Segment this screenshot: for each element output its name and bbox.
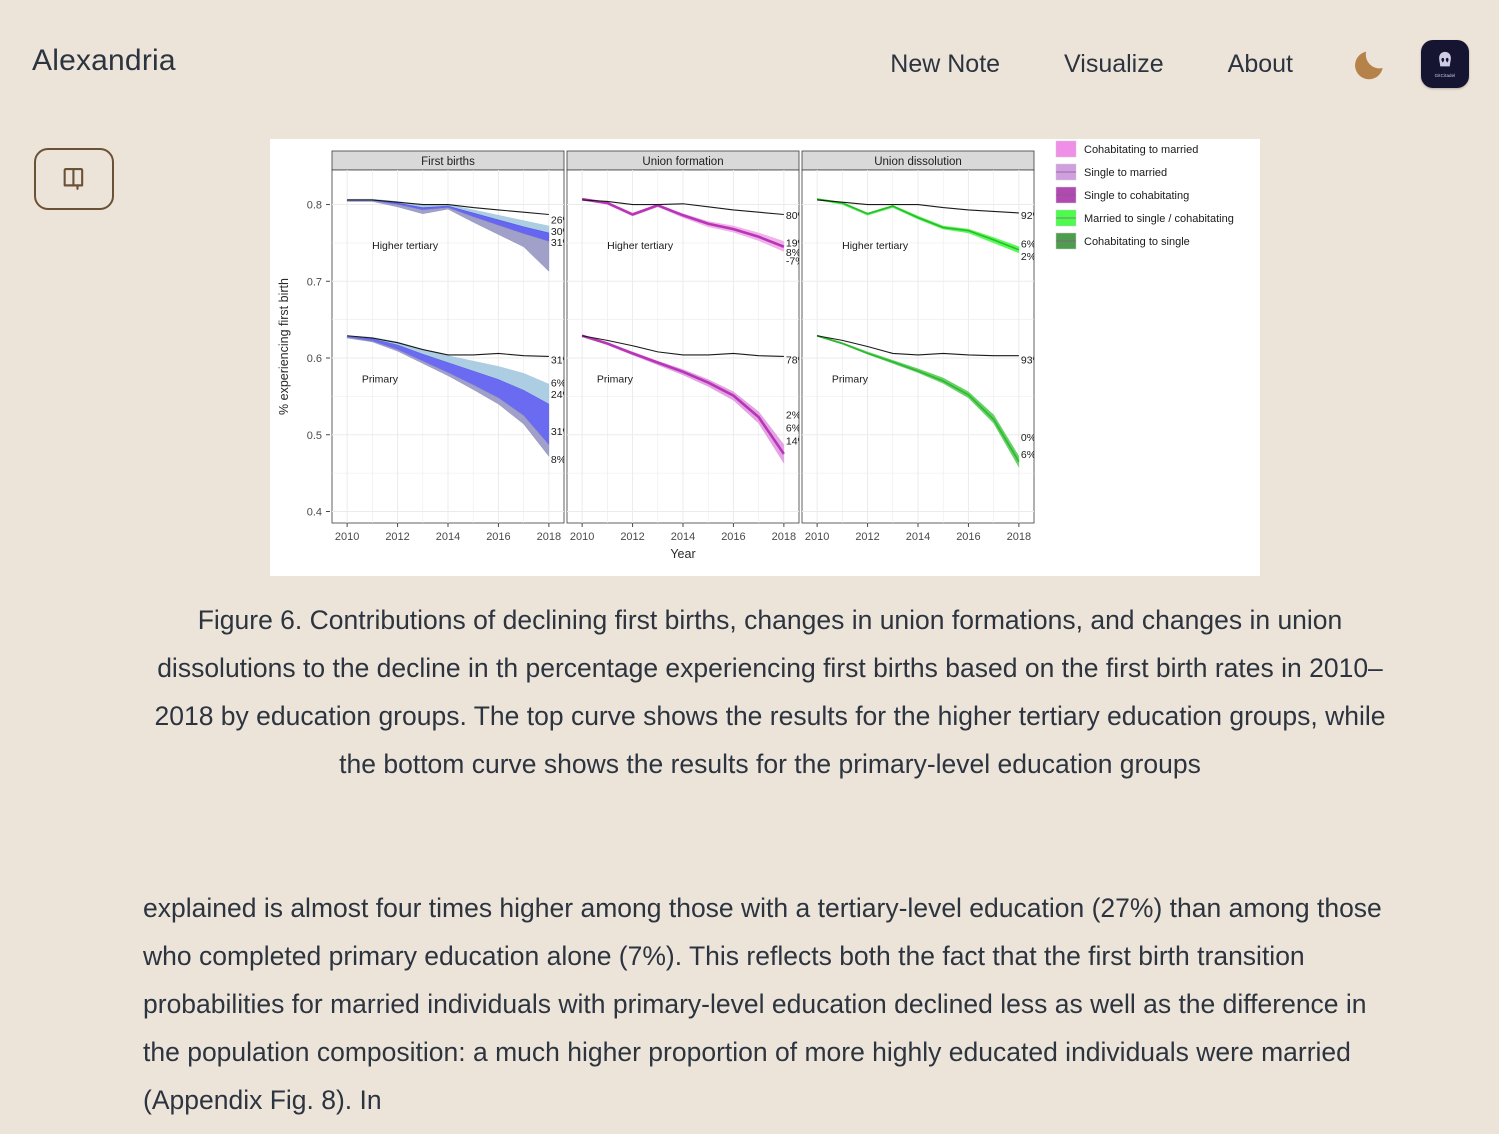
figure-6-chart: 0.40.50.60.70.8% experiencing first birt…	[270, 139, 1260, 576]
svg-text:2012: 2012	[855, 531, 879, 543]
logo-wordmark: GitCitadel	[1435, 73, 1456, 78]
moon-icon	[1351, 45, 1389, 83]
svg-text:2012: 2012	[620, 531, 644, 543]
svg-text:2016: 2016	[486, 531, 510, 543]
svg-text:8%: 8%	[551, 454, 566, 466]
svg-text:0.7: 0.7	[307, 276, 322, 288]
figure-caption: Figure 6. Contributions of declining fir…	[140, 596, 1400, 788]
svg-text:2018: 2018	[772, 531, 796, 543]
svg-text:2014: 2014	[906, 531, 930, 543]
article-paragraph: explained is almost four times higher am…	[143, 884, 1391, 1124]
nav-about[interactable]: About	[1196, 50, 1325, 79]
svg-text:Union formation: Union formation	[642, 156, 723, 168]
svg-text:2014: 2014	[436, 531, 460, 543]
svg-text:2016: 2016	[956, 531, 980, 543]
figure-image-container: 0.40.50.60.70.8% experiencing first birt…	[270, 139, 1260, 576]
svg-text:2%: 2%	[786, 410, 801, 422]
svg-text:2010: 2010	[570, 531, 594, 543]
svg-text:Higher tertiary: Higher tertiary	[372, 240, 439, 252]
nav-new-note[interactable]: New Note	[858, 50, 1032, 79]
svg-text:0%: 0%	[1021, 432, 1036, 444]
theme-toggle-button[interactable]	[1349, 43, 1391, 85]
svg-text:% experiencing first birth: % experiencing first birth	[277, 278, 291, 415]
svg-text:Single to cohabitating: Single to cohabitating	[1084, 190, 1189, 202]
svg-text:6%: 6%	[1021, 239, 1036, 251]
svg-text:2012: 2012	[385, 531, 409, 543]
svg-text:Cohabitating to single: Cohabitating to single	[1084, 236, 1190, 248]
svg-text:0.4: 0.4	[307, 506, 322, 518]
svg-text:Primary: Primary	[597, 374, 634, 386]
svg-text:6%: 6%	[786, 423, 801, 435]
svg-text:Primary: Primary	[832, 374, 869, 386]
book-icon	[60, 165, 88, 193]
svg-text:6%: 6%	[1021, 449, 1036, 461]
svg-text:2010: 2010	[805, 531, 829, 543]
svg-text:Married to single / cohabitati: Married to single / cohabitating	[1084, 213, 1234, 225]
svg-text:Primary: Primary	[362, 374, 399, 386]
svg-text:2010: 2010	[335, 531, 359, 543]
svg-text:2018: 2018	[1007, 531, 1031, 543]
svg-text:0.5: 0.5	[307, 430, 322, 442]
nav-links: New Note Visualize About GitCitadel	[858, 40, 1469, 88]
svg-text:Union dissolution: Union dissolution	[874, 156, 962, 168]
svg-text:2018: 2018	[537, 531, 561, 543]
svg-text:Cohabitating to married: Cohabitating to married	[1084, 144, 1198, 156]
svg-text:0.6: 0.6	[307, 353, 322, 365]
svg-text:2014: 2014	[671, 531, 695, 543]
svg-text:6%: 6%	[551, 377, 566, 389]
svg-text:0.8: 0.8	[307, 200, 322, 212]
svg-text:Year: Year	[670, 547, 695, 561]
svg-text:First births: First births	[421, 156, 475, 168]
svg-text:Single to married: Single to married	[1084, 167, 1167, 179]
app-brand-title[interactable]: Alexandria	[32, 44, 176, 78]
svg-text:2016: 2016	[721, 531, 745, 543]
top-navigation-bar: Alexandria New Note Visualize About GitC…	[0, 0, 1499, 128]
nav-visualize[interactable]: Visualize	[1032, 50, 1196, 79]
svg-text:Higher tertiary: Higher tertiary	[842, 240, 909, 252]
gitcitadel-logo-button[interactable]: GitCitadel	[1421, 40, 1469, 88]
svg-text:2%: 2%	[1021, 251, 1036, 263]
sidebar-toggle-button[interactable]	[34, 148, 114, 210]
svg-text:Higher tertiary: Higher tertiary	[607, 240, 674, 252]
citadel-hood-icon	[1434, 50, 1456, 72]
